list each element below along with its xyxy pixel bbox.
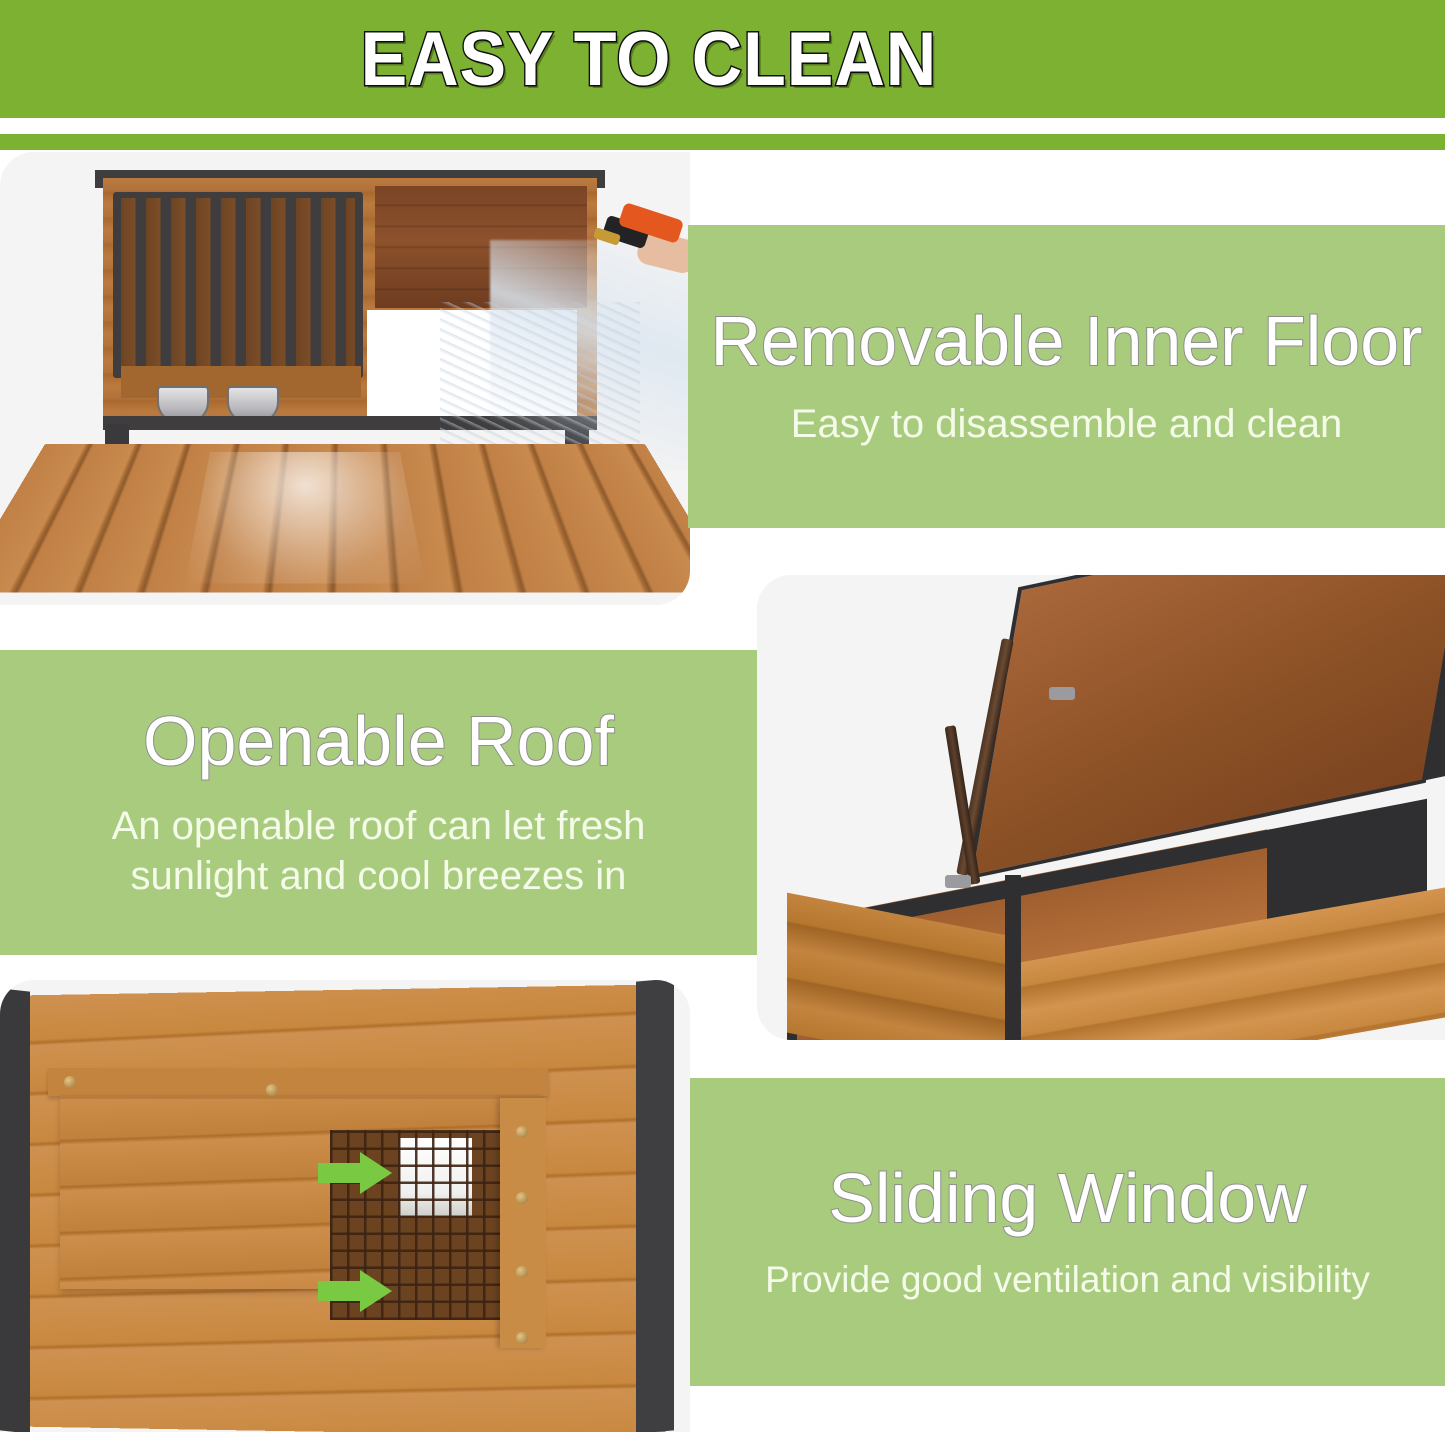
strut-hinge-lower [945,875,971,888]
infographic-canvas: EASY TO CLEAN [0,0,1445,1432]
screw [516,1266,528,1278]
panel-subtitle-sliding-window: Provide good ventilation and visibility [765,1257,1370,1303]
screw [64,1076,76,1088]
green-arrow-right-bottom [318,1270,392,1312]
photo-sliding-window [0,980,690,1432]
wall-edge-left [0,988,30,1432]
photo-removable-floor [0,152,690,605]
page-title: EASY TO CLEAN [58,14,1387,106]
house-gate-bars [121,198,355,372]
panel-sliding-window: Sliding Window Provide good ventilation … [690,1078,1445,1386]
photo-openable-roof [757,575,1445,1040]
arrow-head [360,1152,392,1194]
hose-nozzle-icon [598,207,690,259]
house-corner-post [1005,875,1021,1040]
arrow-shaft [318,1281,362,1301]
lid-hinge-upper [1049,687,1075,700]
screw [516,1332,528,1344]
panel-title-openable-roof: Openable Roof [143,704,614,780]
panel-openable-roof: Openable Roof An openable roof can let f… [0,650,757,955]
panel-title-removable-inner-floor: Removable Inner Floor [711,304,1423,380]
screw [516,1192,528,1204]
arrow-shaft [318,1163,362,1183]
green-arrow-right-top [318,1152,392,1194]
screw [516,1126,528,1138]
header-accent-strip [0,134,1445,150]
wall-trim-slat [48,1068,548,1096]
panel-title-sliding-window: Sliding Window [828,1161,1307,1237]
panel-subtitle-openable-roof: An openable roof can let fresh sunlight … [79,801,679,901]
wall-edge-right [636,980,674,1432]
screw [266,1084,278,1096]
panel-removable-inner-floor: Removable Inner Floor Easy to disassembl… [688,225,1445,528]
arrow-head [360,1270,392,1312]
wet-floor-highlight [185,452,425,583]
panel-subtitle-removable-inner-floor: Easy to disassemble and clean [791,399,1342,449]
